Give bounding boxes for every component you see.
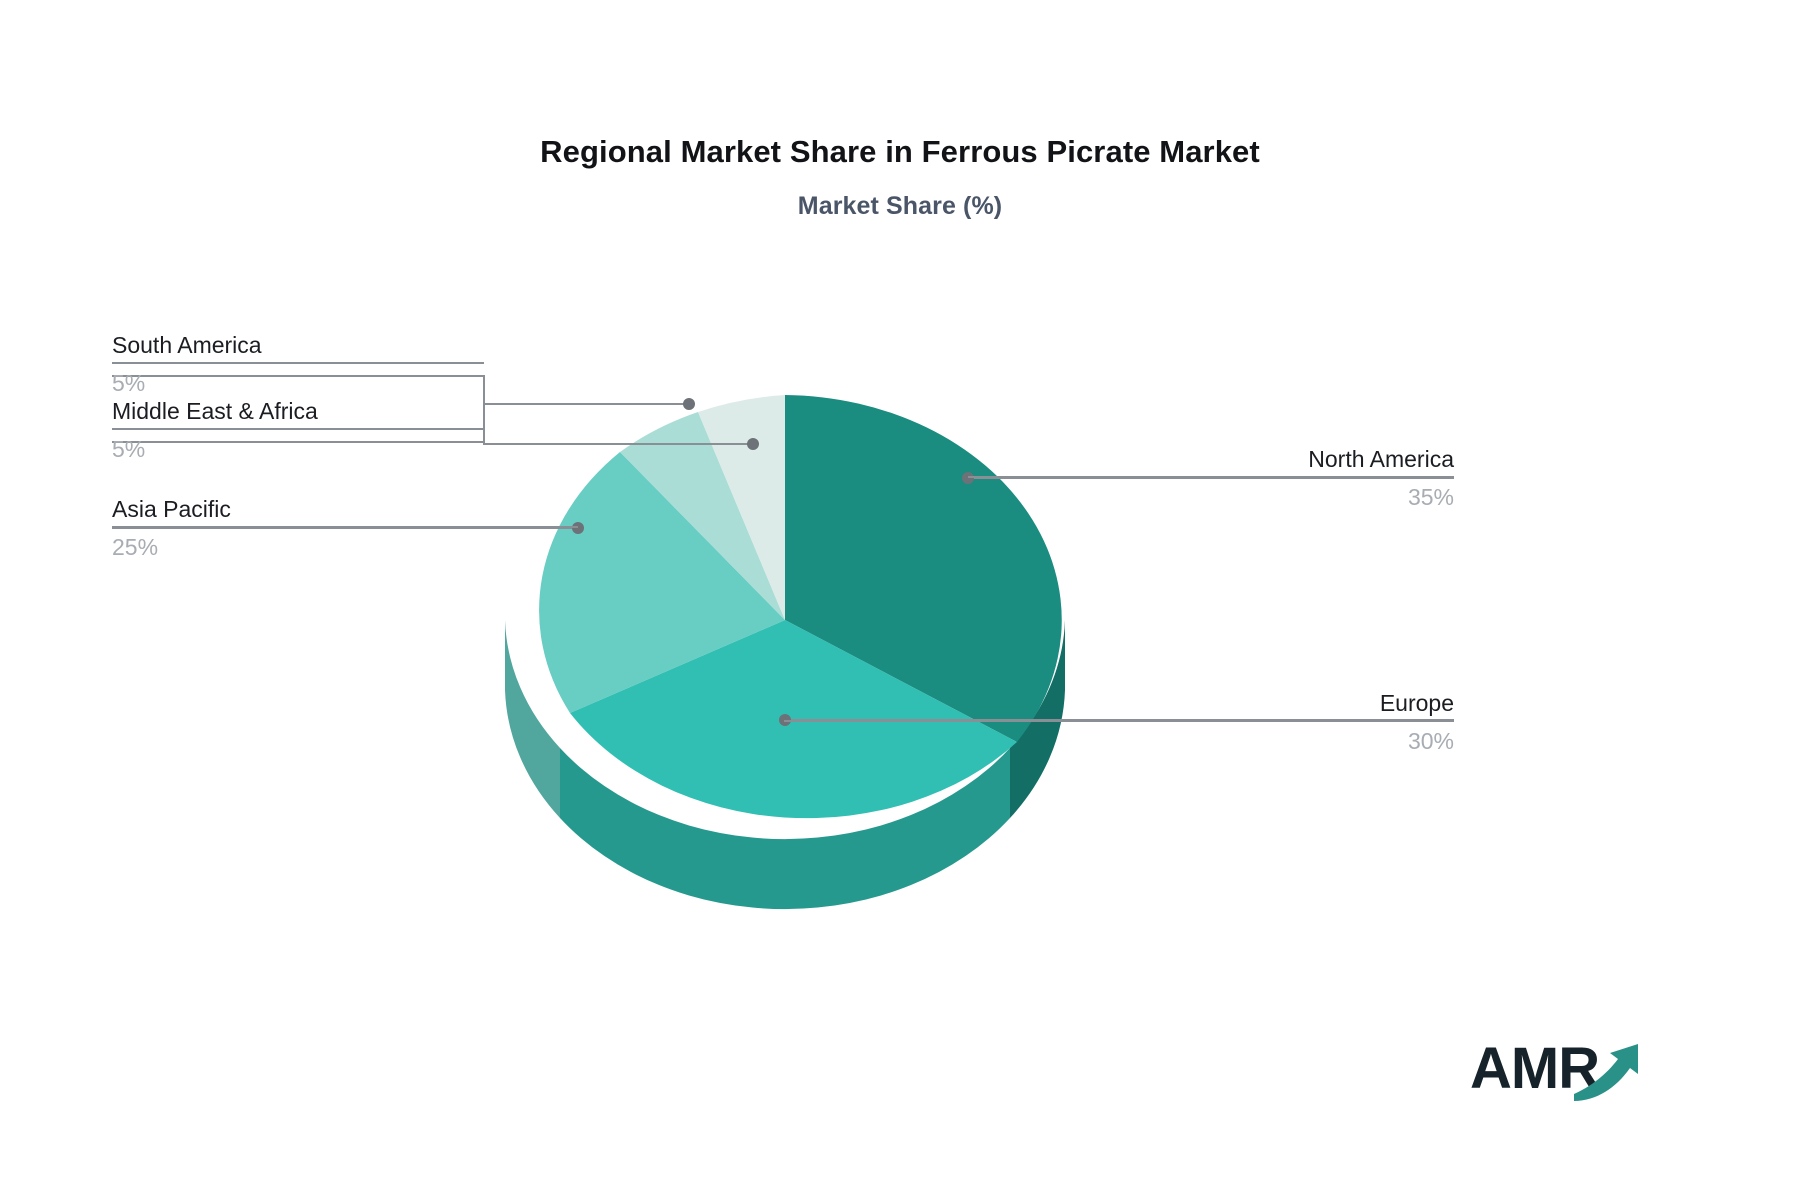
callout-label-europe: Europe	[784, 688, 1454, 718]
callout-europe[interactable]: Europe 30%	[784, 688, 1454, 757]
callout-value-asia-pacific: 25%	[112, 528, 578, 563]
callout-value-north-america: 35%	[968, 478, 1454, 513]
callout-label-north-america: North America	[968, 444, 1454, 474]
leader-dot-middle-east-africa	[683, 398, 695, 410]
callout-value-europe: 30%	[784, 722, 1454, 757]
callout-value-south-america: 5%	[112, 364, 484, 399]
callout-asia-pacific[interactable]: Asia Pacific 25%	[112, 494, 578, 563]
chart-canvas: Regional Market Share in Ferrous Picrate…	[0, 0, 1800, 1196]
callout-middle-east-africa[interactable]: Middle East & Africa 5%	[112, 396, 484, 465]
callout-label-south-america: South America	[112, 330, 484, 360]
leader-dot-south-america	[747, 438, 759, 450]
amr-logo: AMR	[1470, 1032, 1650, 1108]
callout-label-middle-east-africa: Middle East & Africa	[112, 396, 484, 426]
pie-chart-graphic	[0, 0, 1800, 1196]
callout-north-america[interactable]: North America 35%	[968, 444, 1454, 513]
callout-label-asia-pacific: Asia Pacific	[112, 494, 578, 524]
callout-value-middle-east-africa: 5%	[112, 430, 484, 465]
callout-south-america[interactable]: South America 5%	[112, 330, 484, 399]
